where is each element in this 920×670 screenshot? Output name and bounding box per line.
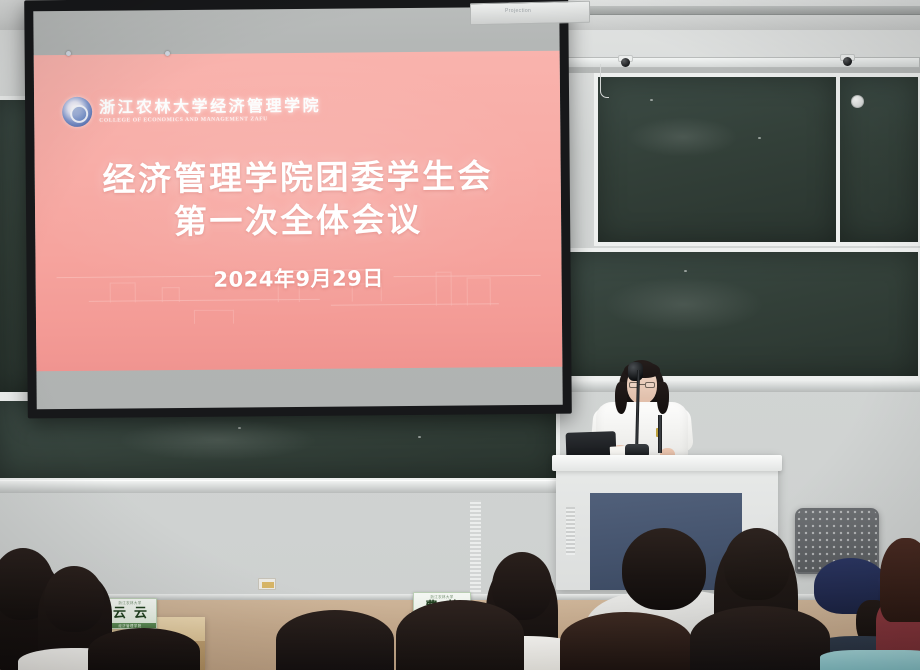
slide-logo-english: COLLEGE OF ECONOMICS AND MANAGEMENT ZAFU [99,116,321,124]
speaker-glasses-bridge [639,384,645,385]
chalk-ledge-right [560,380,920,392]
slide-date: 2024年9月29日 [35,260,561,295]
projection-screen: 浙江农林大学经济管理学院 COLLEGE OF ECONOMICS AND MA… [24,0,572,418]
slide-title-line2: 第一次全体会议 [35,198,561,245]
presentation-slide: 浙江农林大学经济管理学院 COLLEGE OF ECONOMICS AND MA… [34,51,563,372]
chalk-ledge [0,480,574,493]
slide-title-block: 经济管理学院团委学生会 第一次全体会议 2024年9月29日 [35,155,562,295]
speaker-hair-right [657,382,669,414]
podium-top-surface [552,455,782,471]
speaker-hair-left [615,382,627,414]
speaker-glasses-right [645,382,655,388]
podium-screw [66,51,71,56]
podium-screw [165,51,170,56]
classroom-photo: 浙江农林大学经济管理学院 COLLEGE OF ECONOMICS AND MA… [0,0,920,670]
blackboard-upper-right-panel [594,73,840,246]
ceiling-spotlight-icon [618,55,633,70]
projector-housing-label: Projection [505,8,531,14]
wall-knob [851,95,864,108]
slide-logo: 浙江农林大学经济管理学院 COLLEGE OF ECONOMICS AND MA… [62,95,321,127]
blackboard-lower-right-panel [560,248,920,380]
projection-screen-surface: 浙江农林大学经济管理学院 COLLEGE OF ECONOMICS AND MA… [33,7,562,410]
podium-vent [566,507,575,555]
slide-title-line1: 经济管理学院团委学生会 [35,155,561,202]
university-emblem-icon [62,97,92,127]
slide-logo-chinese: 浙江农林大学经济管理学院 [99,97,321,115]
hanging-cable [600,64,609,98]
ceiling-spotlight-icon [840,54,855,69]
blackboard-top-frame [560,57,920,68]
secondary-microphone [658,415,662,453]
blackboard-rail [560,68,920,73]
microphone-icon [628,362,643,381]
wall-outlet [258,578,276,590]
wall-column-strip [470,500,481,595]
